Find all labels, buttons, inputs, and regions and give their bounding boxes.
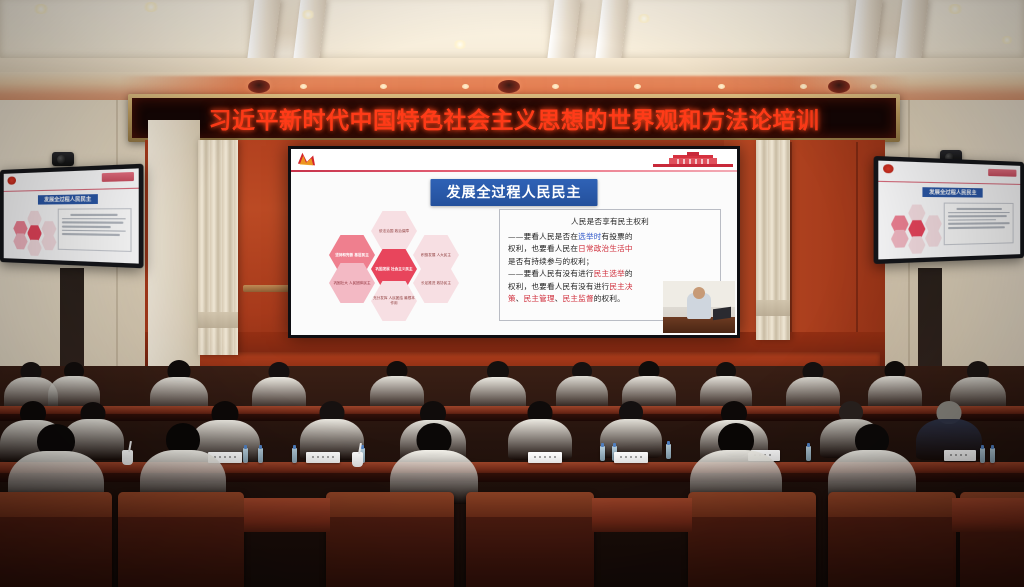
water-bottle bbox=[806, 446, 811, 461]
slide-textbox-mini bbox=[943, 202, 1014, 245]
audience-person bbox=[252, 360, 306, 412]
great-hall-graphic-icon bbox=[653, 151, 733, 169]
led-banner-text: 习近平新时代中国特色社会主义思想的世界观和方法论培训 bbox=[209, 101, 820, 135]
curtain-tieback-left bbox=[198, 312, 238, 328]
spotlight-small bbox=[380, 84, 387, 89]
textbox-heading: 人民是否享有民主权利 bbox=[508, 216, 712, 229]
stage-spotlight bbox=[248, 80, 270, 93]
water-bottle bbox=[600, 446, 605, 461]
auditorium-chair bbox=[688, 492, 816, 587]
auditorium-chair bbox=[466, 492, 594, 587]
conference-desk bbox=[244, 498, 330, 532]
spotlight-small bbox=[462, 84, 469, 89]
great-hall-graphic-icon bbox=[102, 172, 134, 181]
spotlight-small bbox=[718, 84, 725, 89]
auditorium-chair bbox=[828, 492, 956, 587]
downlight bbox=[32, 4, 50, 14]
party-emblem-icon bbox=[7, 176, 15, 185]
auditorium-chair bbox=[326, 492, 454, 587]
water-bottle bbox=[292, 448, 297, 463]
conference-hall-photo: 习近平新时代中国特色社会主义思想的世界观和方法论培训 bbox=[0, 0, 1024, 587]
water-bottle bbox=[990, 448, 995, 463]
stage-pillar-left bbox=[148, 120, 200, 370]
party-emblem-icon bbox=[295, 151, 317, 169]
hex-cell: 巩固壮大 人民团体民主 bbox=[329, 263, 375, 303]
hex-cell: 长足推进 政协民主 bbox=[413, 263, 459, 303]
hex-cell: 充分发挥 人民团结 最根本作用 bbox=[371, 281, 417, 321]
spotlight-small bbox=[634, 84, 641, 89]
hexagon-diagram: 依法治国 政治保障 坚持和完善 基层民主 积极发展 人大民主 巩固发展 社会主义… bbox=[319, 211, 489, 321]
side-monitor-title: 发展全过程人民民主 bbox=[922, 187, 982, 197]
conference-desk bbox=[952, 498, 1024, 532]
lectern bbox=[247, 288, 293, 348]
downlight bbox=[142, 2, 160, 12]
textbox-line: 权利，也要看人民在日常政治生活中 bbox=[508, 243, 712, 256]
drink-cup bbox=[352, 452, 363, 467]
led-banner-frame: 习近平新时代中国特色社会主义思想的世界观和方法论培训 bbox=[128, 94, 900, 142]
hexagon-diagram-mini bbox=[13, 211, 56, 250]
side-monitor-left: 发展全过程人民民主 bbox=[0, 164, 144, 269]
remote-speaker-inset bbox=[663, 281, 735, 333]
water-bottle bbox=[980, 448, 985, 463]
desk-nameplate bbox=[306, 452, 340, 463]
party-emblem-icon bbox=[883, 164, 894, 174]
spotlight-small bbox=[870, 84, 877, 89]
water-bottle bbox=[243, 448, 248, 463]
audience-person bbox=[508, 400, 572, 460]
textbox-line: 是否有持续参与的权利； bbox=[508, 256, 712, 269]
slide-header-rule bbox=[291, 170, 737, 172]
slide-surface: 发展全过程人民民主 依法治国 政治保障 坚持和完善 基层民主 积极发展 人大民主… bbox=[291, 149, 737, 335]
textbox-line: ——要看人民是否在选举时有投票的 bbox=[508, 231, 712, 244]
auditorium-chair bbox=[118, 492, 244, 587]
great-hall-graphic-icon bbox=[988, 168, 1017, 177]
slide-title: 发展全过程人民民主 bbox=[431, 179, 598, 206]
hexagon-diagram-mini bbox=[891, 204, 942, 247]
downlight bbox=[946, 4, 964, 14]
downlight bbox=[300, 10, 316, 19]
desk-nameplate bbox=[614, 452, 648, 463]
downlight bbox=[452, 40, 468, 49]
audience-person bbox=[600, 400, 662, 458]
downlight bbox=[636, 14, 652, 23]
led-banner-screen: 习近平新时代中国特色社会主义思想的世界观和方法论培训 bbox=[132, 98, 896, 138]
desk-nameplate bbox=[944, 450, 976, 461]
projection-screen: 发展全过程人民民主 依法治国 政治保障 坚持和完善 基层民主 积极发展 人大民主… bbox=[288, 146, 740, 338]
stage-spotlight bbox=[828, 80, 850, 93]
ceiling-camera-left bbox=[52, 152, 74, 166]
curtain-tieback-right bbox=[756, 300, 790, 316]
water-bottle bbox=[258, 448, 263, 463]
spotlight-small bbox=[552, 84, 559, 89]
conference-desk bbox=[592, 498, 692, 532]
auditorium-chair bbox=[0, 492, 112, 587]
spotlight-small bbox=[300, 84, 307, 89]
spotlight-small bbox=[800, 84, 807, 89]
ceiling bbox=[0, 0, 1024, 74]
water-bottle bbox=[666, 444, 671, 459]
side-monitor-right: 发展全过程人民民主 bbox=[874, 156, 1024, 264]
audience-person bbox=[300, 400, 364, 460]
drink-cup bbox=[122, 450, 133, 465]
stage-spotlight bbox=[498, 80, 520, 93]
hex-cell: 依法治国 政治保障 bbox=[371, 211, 417, 251]
textbox-line: ——要看人民有没有进行民主选举的 bbox=[508, 268, 712, 281]
downlight bbox=[1000, 36, 1014, 44]
desk-nameplate bbox=[528, 452, 562, 463]
side-monitor-title: 发展全过程人民民主 bbox=[38, 194, 98, 204]
slide-textbox-mini bbox=[58, 208, 131, 251]
